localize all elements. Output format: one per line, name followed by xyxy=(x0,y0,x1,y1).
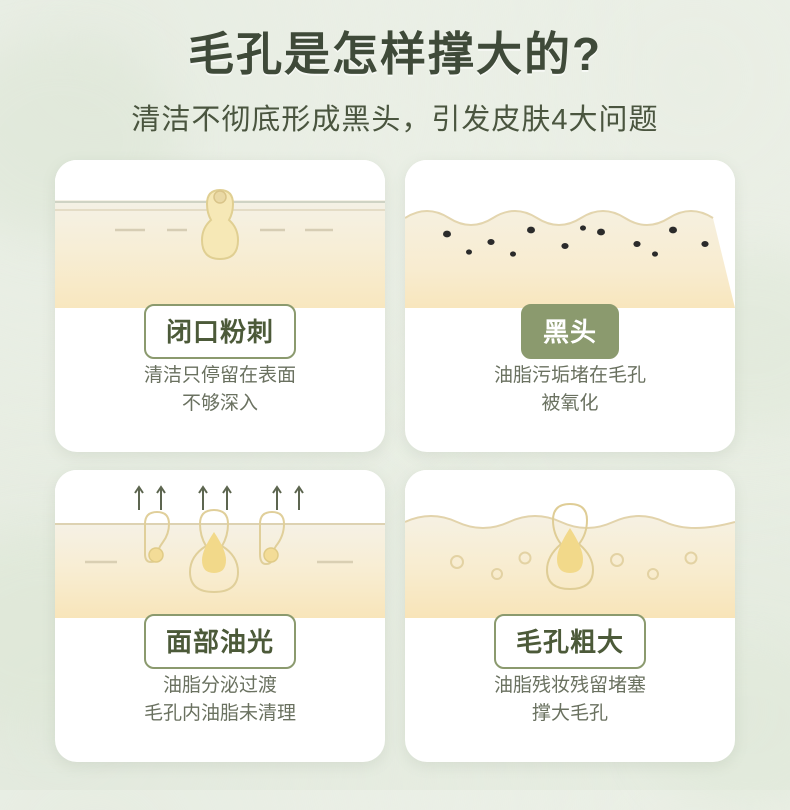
desc-line: 不够深入 xyxy=(65,390,375,418)
desc-line: 毛孔内油脂未清理 xyxy=(65,700,375,728)
desc-enlarged-pores: 油脂残妆残留堵塞 撑大毛孔 xyxy=(405,668,735,727)
illustration-enlarged-pores xyxy=(405,470,735,618)
badge-facial-oil: 面部油光 xyxy=(144,614,296,669)
desc-facial-oil: 油脂分泌过渡 毛孔内油脂未清理 xyxy=(55,668,385,727)
poster-root: 毛孔是怎样撑大的? 清洁不彻底形成黑头，引发皮肤4大问题 xyxy=(0,0,790,790)
badge-wrap-1: 闭口粉刺 xyxy=(55,304,385,358)
desc-line: 被氧化 xyxy=(415,390,725,418)
card-facial-oil: 面部油光 油脂分泌过渡 毛孔内油脂未清理 xyxy=(55,470,385,762)
desc-line: 清洁只停留在表面 xyxy=(65,362,375,390)
desc-line: 油脂污垢堵在毛孔 xyxy=(415,362,725,390)
desc-line: 撑大毛孔 xyxy=(415,700,725,728)
cards-grid: 闭口粉刺 清洁只停留在表面 不够深入 xyxy=(55,160,735,760)
badge-wrap-2: 黑头 xyxy=(405,304,735,358)
illustration-blackheads xyxy=(405,160,735,308)
illustration-closed-comedone xyxy=(55,160,385,308)
badge-enlarged-pores: 毛孔粗大 xyxy=(494,614,646,669)
page-title: 毛孔是怎样撑大的? xyxy=(0,18,790,84)
desc-line: 油脂分泌过渡 xyxy=(65,672,375,700)
card-blackheads: 黑头 油脂污垢堵在毛孔 被氧化 xyxy=(405,160,735,452)
card-closed-comedone: 闭口粉刺 清洁只停留在表面 不够深入 xyxy=(55,160,385,452)
badge-wrap-3: 面部油光 xyxy=(55,614,385,668)
desc-closed-comedone: 清洁只停留在表面 不够深入 xyxy=(55,358,385,417)
badge-wrap-4: 毛孔粗大 xyxy=(405,614,735,668)
page-subtitle: 清洁不彻底形成黑头，引发皮肤4大问题 xyxy=(0,96,790,138)
desc-line: 油脂残妆残留堵塞 xyxy=(415,672,725,700)
desc-blackheads: 油脂污垢堵在毛孔 被氧化 xyxy=(405,358,735,417)
card-enlarged-pores: 毛孔粗大 油脂残妆残留堵塞 撑大毛孔 xyxy=(405,470,735,762)
badge-closed-comedone: 闭口粉刺 xyxy=(144,304,296,359)
badge-blackheads: 黑头 xyxy=(521,304,619,359)
illustration-facial-oil xyxy=(55,470,385,618)
